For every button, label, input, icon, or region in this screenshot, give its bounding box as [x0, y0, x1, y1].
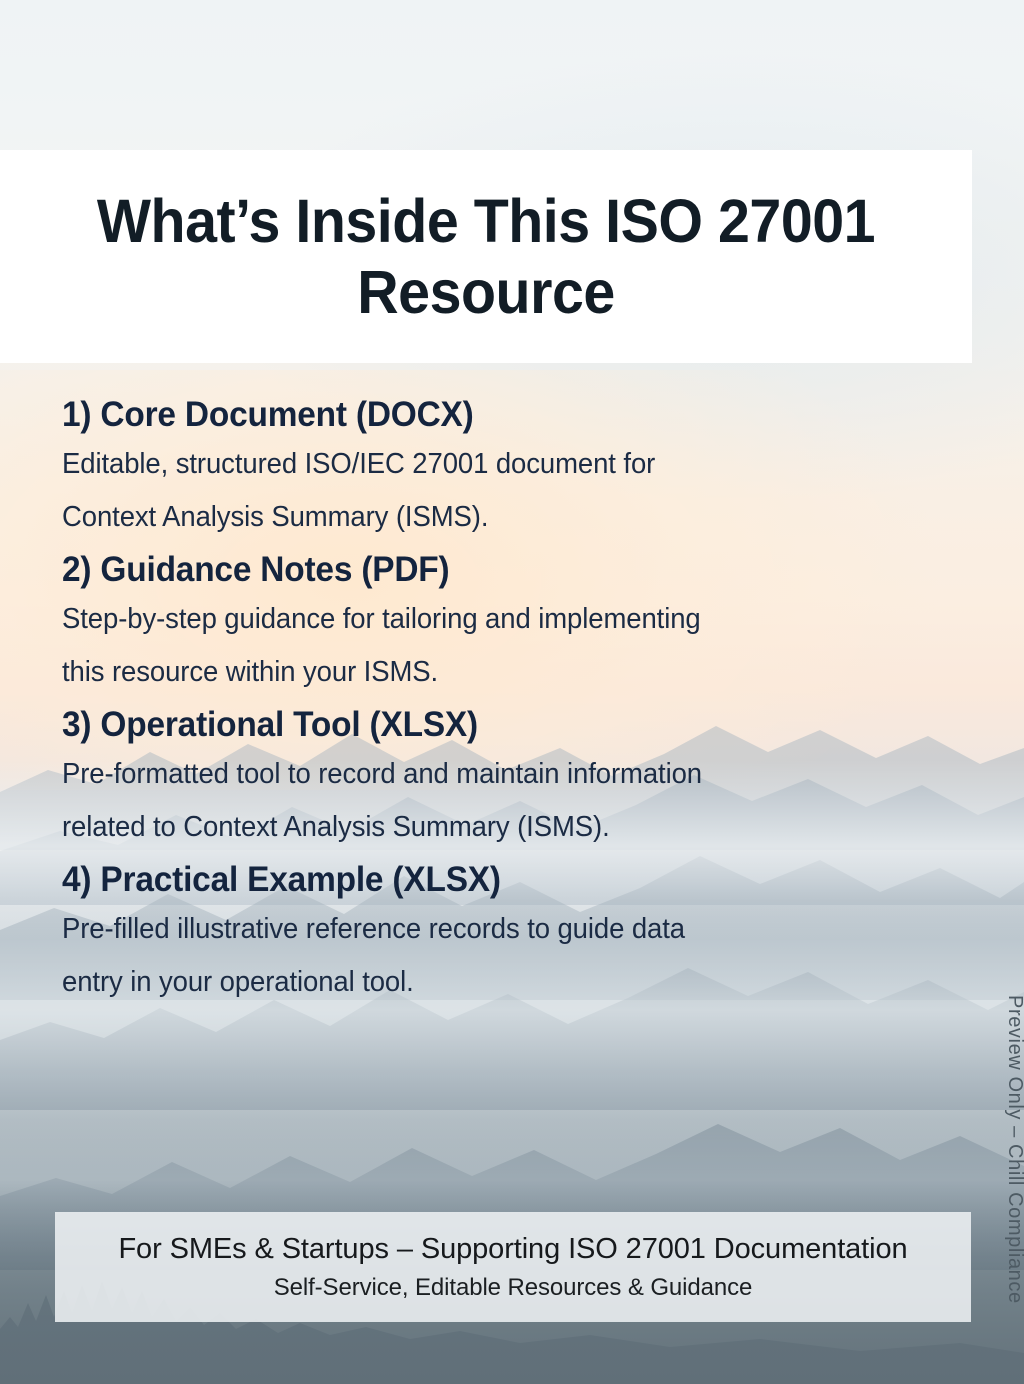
- poster-canvas: What’s Inside This ISO 27001 Resource 1)…: [0, 0, 1024, 1384]
- resource-item-1-body-line1: Editable, structured ISO/IEC 27001 docum…: [62, 438, 935, 491]
- resource-item-3-heading: 3) Operational Tool (XLSX): [62, 702, 926, 748]
- footer-band: For SMEs & Startups – Supporting ISO 270…: [55, 1212, 971, 1322]
- page-title: What’s Inside This ISO 27001 Resource: [72, 186, 899, 328]
- resource-item-1: 1) Core Document (DOCX) Editable, struct…: [62, 392, 967, 544]
- resource-item-2-heading: 2) Guidance Notes (PDF): [62, 547, 926, 593]
- resource-item-2-body-line2: this resource within your ISMS.: [62, 646, 935, 699]
- resource-item-3-body-line2: related to Context Analysis Summary (ISM…: [62, 801, 935, 854]
- resource-item-4-body-line1: Pre-filled illustrative reference record…: [62, 903, 935, 956]
- resource-item-4-body-line2: entry in your operational tool.: [62, 956, 935, 1009]
- resource-item-1-heading: 1) Core Document (DOCX): [62, 392, 926, 438]
- resource-item-2-body-line1: Step-by-step guidance for tailoring and …: [62, 593, 935, 646]
- preview-watermark: Preview Only – Chill Compliance: [986, 995, 1024, 1304]
- footer-tagline-primary: For SMEs & Startups – Supporting ISO 270…: [118, 1231, 907, 1267]
- resource-item-3: 3) Operational Tool (XLSX) Pre-formatted…: [62, 702, 967, 854]
- footer-tagline-secondary: Self-Service, Editable Resources & Guida…: [274, 1272, 753, 1303]
- resource-item-2: 2) Guidance Notes (PDF) Step-by-step gui…: [62, 547, 967, 699]
- title-band: What’s Inside This ISO 27001 Resource: [0, 150, 972, 363]
- resource-contents-list: 1) Core Document (DOCX) Editable, struct…: [62, 392, 967, 1012]
- resource-item-4-heading: 4) Practical Example (XLSX): [62, 857, 926, 903]
- resource-item-4: 4) Practical Example (XLSX) Pre-filled i…: [62, 857, 967, 1009]
- resource-item-1-body-line2: Context Analysis Summary (ISMS).: [62, 491, 935, 544]
- resource-item-3-body-line1: Pre-formatted tool to record and maintai…: [62, 748, 935, 801]
